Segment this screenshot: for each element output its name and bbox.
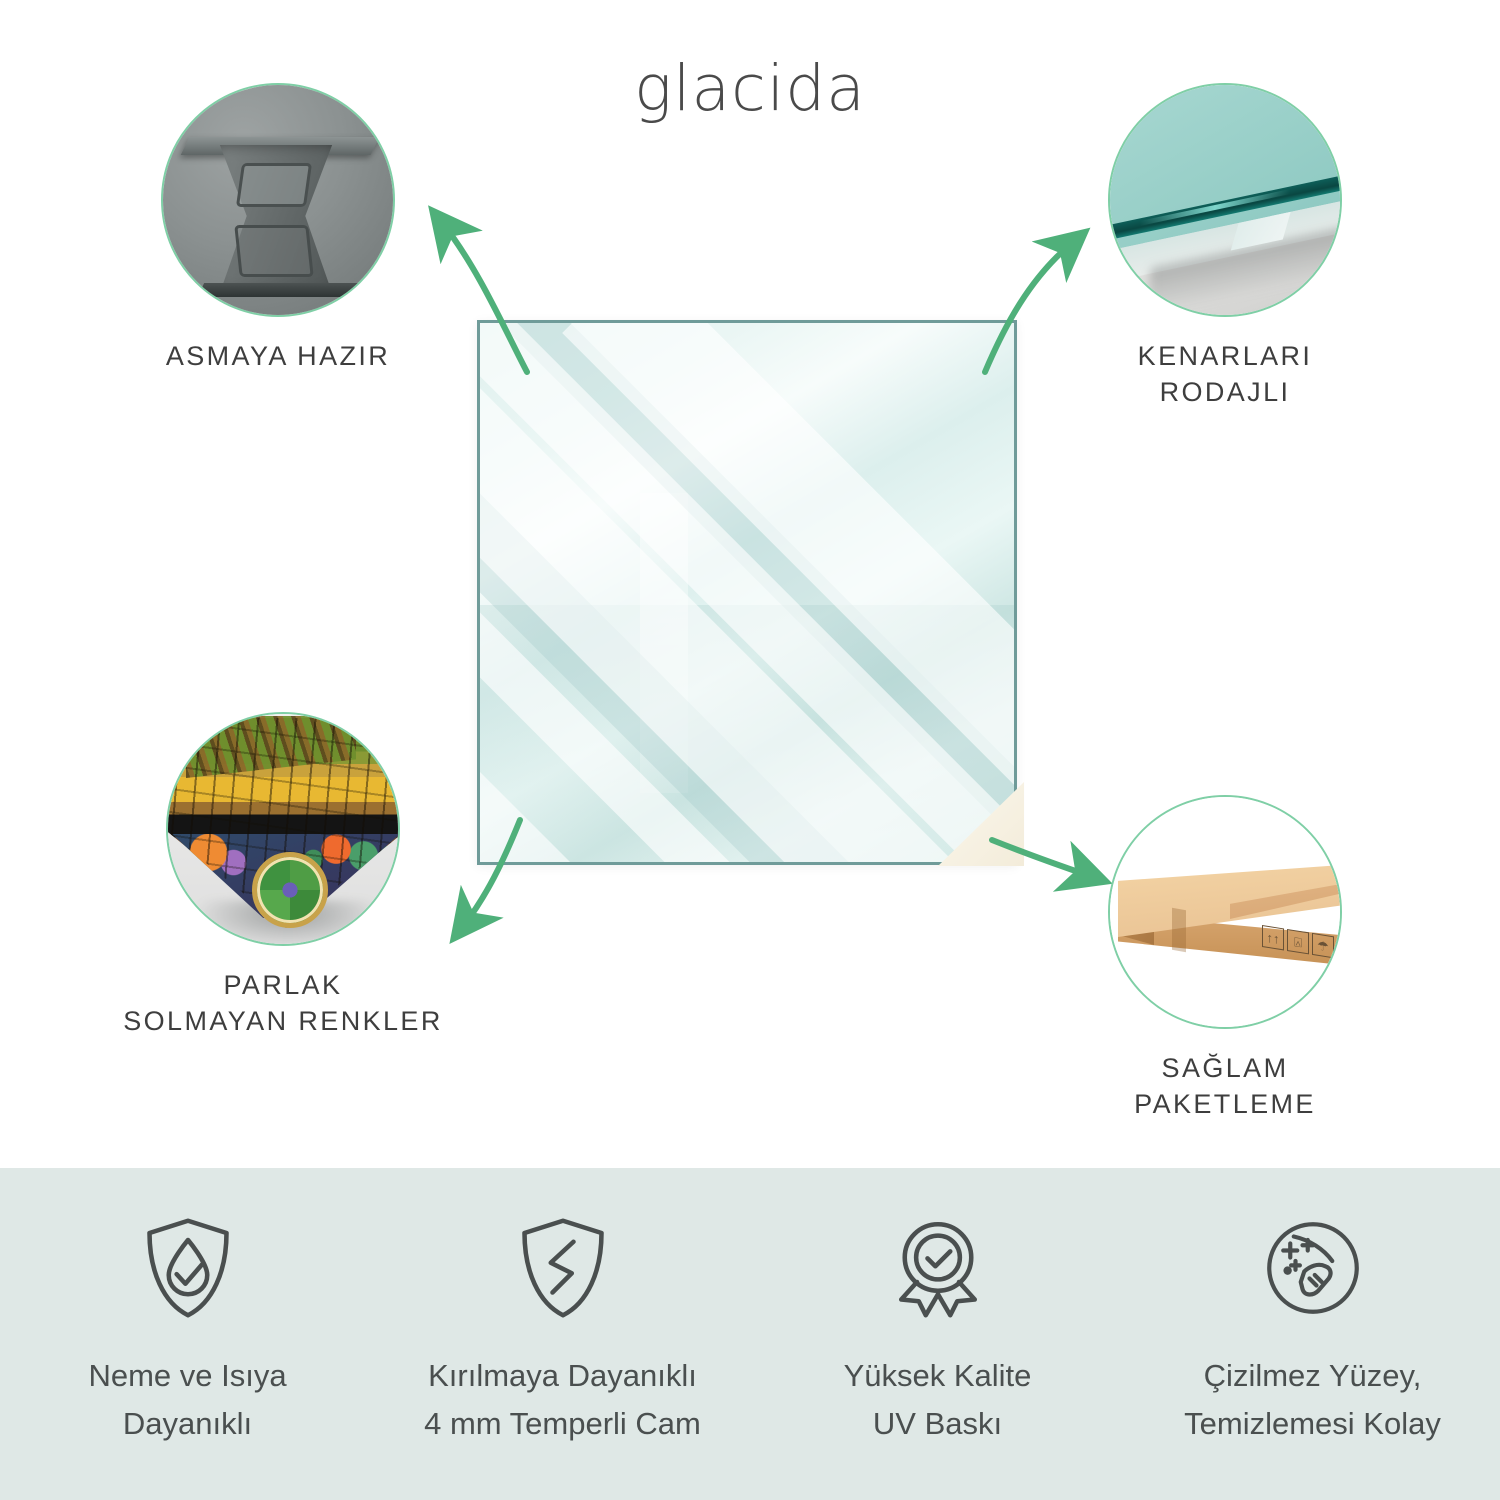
ready-to-hang-image: [161, 83, 395, 317]
glass-edge-icon: [1110, 85, 1340, 315]
keep-dry-mark: ☂: [1312, 933, 1334, 958]
feature-node-polished-edges: KENARLARI RODAJLI: [1108, 83, 1375, 410]
ready-to-hang-label: ASMAYA HAZIR: [88, 339, 468, 375]
product-glass-panel: [477, 320, 1017, 865]
feature-item-scratch-free: Çizilmez Yüzey, Temizlemesi Kolay: [1148, 1210, 1478, 1448]
vivid-colors-image: [166, 712, 400, 946]
polished-edges-image: [1108, 83, 1342, 317]
shield-bolt-icon: [398, 1210, 728, 1326]
feature-label-scratch-free: Çizilmez Yüzey, Temizlemesi Kolay: [1148, 1352, 1478, 1448]
polished-edges-label: KENARLARI RODAJLI: [1075, 339, 1375, 410]
feature-item-moisture-heat: Neme ve Isıya Dayanıklı: [23, 1210, 353, 1448]
vivid-colors-label: PARLAK SOLMAYAN RENKLER: [53, 968, 513, 1039]
feature-item-break-resistant: Kırılmaya Dayanıklı 4 mm Temperli Cam: [398, 1210, 728, 1448]
fragile-mark: ⍓: [1287, 929, 1309, 954]
strong-packing-image: ↑↑ ⍓ ☂: [1108, 795, 1342, 1029]
feature-label-moisture-heat: Neme ve Isıya Dayanıklı: [23, 1352, 353, 1448]
award-ribbon-check-icon: [773, 1210, 1103, 1326]
feature-node-strong-packing: ↑↑ ⍓ ☂ SAĞLAM PAKETLEME: [1108, 795, 1375, 1122]
shield-droplet-check-icon: [23, 1210, 353, 1326]
sparkle-hand-wipe-icon: [1148, 1210, 1478, 1326]
feature-bar: Neme ve Isıya Dayanıklı Kırılmaya Dayanı…: [0, 1168, 1500, 1500]
feature-label-high-quality: Yüksek Kalite UV Baskı: [773, 1352, 1103, 1448]
feature-node-vivid-colors: PARLAK SOLMAYAN RENKLER: [166, 712, 513, 1039]
this-way-up-mark: ↑↑: [1262, 925, 1284, 950]
stained-glass-artwork-icon: [168, 714, 398, 944]
feature-node-ready-to-hang: ASMAYA HAZIR: [161, 83, 468, 375]
feature-label-break-resistant: Kırılmaya Dayanıklı 4 mm Temperli Cam: [398, 1352, 728, 1448]
cardboard-box-icon: ↑↑ ⍓ ☂: [1110, 797, 1340, 1027]
hanging-bracket-icon: [163, 85, 393, 315]
strong-packing-label: SAĞLAM PAKETLEME: [1075, 1051, 1375, 1122]
feature-item-high-quality: Yüksek Kalite UV Baskı: [773, 1210, 1103, 1448]
